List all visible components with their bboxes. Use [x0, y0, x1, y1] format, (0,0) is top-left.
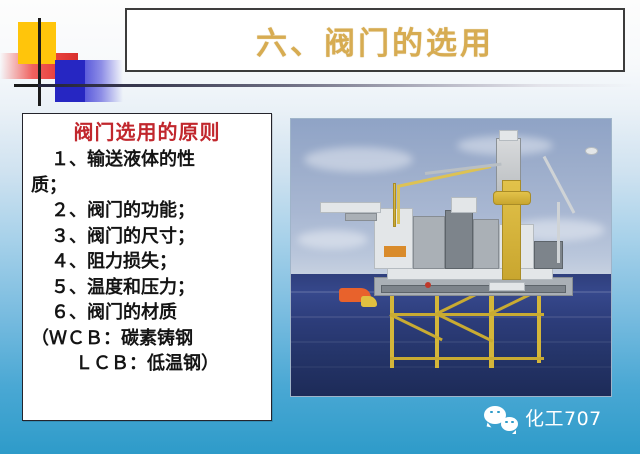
footer-logo: 化工707: [484, 404, 602, 431]
list-item: ６、阀门的材质: [31, 300, 263, 326]
list-item: （ＷＣＢ：碳素铸钢: [31, 326, 263, 352]
title-box: 六、阀门的选用: [125, 8, 625, 72]
deck-sign: [489, 282, 524, 290]
panel-heading: 阀门选用的原则: [31, 121, 263, 143]
list-item: 质；: [31, 173, 263, 199]
oil-platform-photo: [290, 118, 612, 397]
bubble-eye: [511, 421, 514, 424]
crane-mast: [397, 185, 400, 224]
yellow-square-shape: [18, 22, 56, 64]
principles-panel: 阀门选用的原则 １、输送液体的性 质； ２、阀门的功能； ３、阀门的尺寸； ４、…: [22, 113, 272, 421]
platform-brace: [390, 357, 544, 360]
logo-text: 化工707: [525, 404, 602, 431]
red-gradient-bar-shape: [0, 53, 78, 79]
module-block: [451, 197, 477, 214]
list-item: ＬＣＢ：低温钢）: [31, 351, 263, 377]
principles-list: １、输送液体的性 质； ２、阀门的功能； ３、阀门的尺寸； ４、阻力损失； ５、…: [31, 147, 263, 377]
cloud-shape: [297, 230, 367, 249]
wave-line: [291, 366, 611, 368]
bubble-eye: [505, 421, 508, 424]
list-item: ３、阀门的尺寸；: [31, 224, 263, 250]
platform-brace: [390, 313, 544, 316]
crane-tower: [557, 202, 560, 263]
derrick-crown: [499, 130, 518, 141]
helideck: [320, 202, 381, 213]
cloud-shape: [304, 147, 413, 172]
module-block: [445, 210, 474, 268]
slide-canvas: 六、阀门的选用 阀门选用的原则 １、输送液体的性 质； ２、阀门的功能； ３、阀…: [0, 0, 640, 454]
module-block: [413, 216, 445, 269]
platform-leg: [537, 294, 541, 363]
yellow-crane-house: [493, 191, 531, 205]
wechat-icon: [484, 405, 518, 431]
list-item: １、输送液体的性: [31, 147, 263, 173]
cross-vertical-line: [38, 18, 41, 106]
wave-line: [291, 316, 611, 318]
bubble-eye: [497, 411, 500, 414]
wave-line: [291, 341, 611, 343]
photo-content: [291, 119, 611, 396]
crane-tip: [585, 147, 598, 155]
helideck-support: [345, 213, 377, 221]
bubble-eye: [490, 411, 493, 414]
list-item: ４、阻力损失；: [31, 249, 263, 275]
orange-panel: [384, 246, 406, 257]
page-title: 六、阀门的选用: [256, 18, 494, 63]
list-item: ５、温度和压力；: [31, 275, 263, 301]
blue-solid-square-shape: [55, 60, 85, 102]
module-block: [473, 219, 499, 269]
crane-tower: [393, 183, 396, 227]
deck-railing: [381, 285, 567, 293]
wechat-bubble-small: [501, 417, 518, 431]
blue-gradient-square-shape: [55, 60, 123, 102]
list-item: ２、阀门的功能；: [31, 198, 263, 224]
title-underline-rule: [38, 84, 634, 87]
